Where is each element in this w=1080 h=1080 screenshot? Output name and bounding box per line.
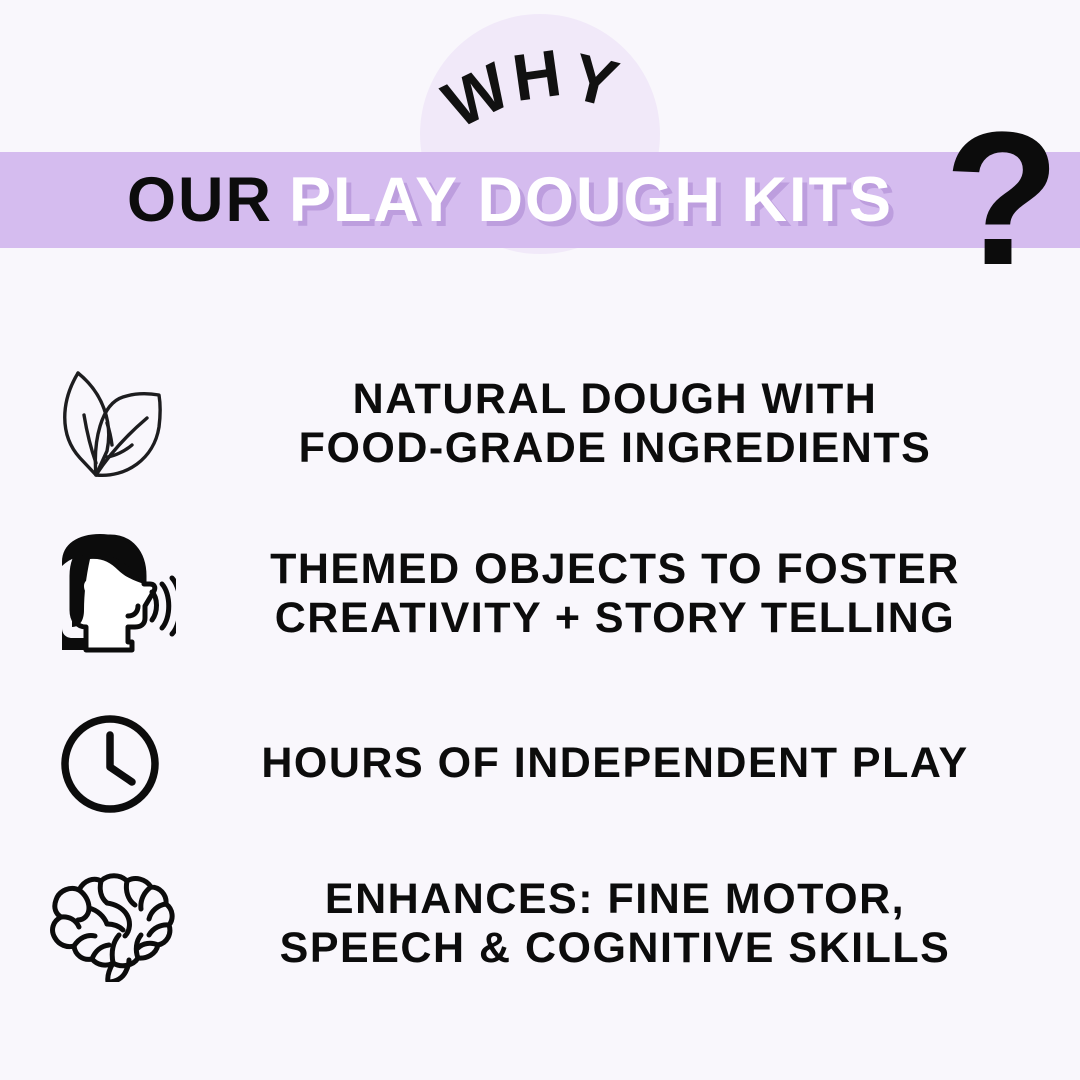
features-list: NATURAL DOUGH WITH FOOD-GRADE INGREDIENT… <box>0 322 1080 1062</box>
feature-line-2: CREATIVITY + STORY TELLING <box>220 594 1010 643</box>
banner-main-text: PLAY DOUGH KITS <box>289 164 893 236</box>
feature-text: ENHANCES: FINE MOTOR, SPEECH & COGNITIVE… <box>220 875 1080 973</box>
feature-line-2: FOOD-GRADE INGREDIENTS <box>220 424 1010 473</box>
feature-line-1: ENHANCES: FINE MOTOR, <box>325 875 905 923</box>
feature-row: HOURS OF INDEPENDENT PLAY <box>0 694 1080 834</box>
feature-text: NATURAL DOUGH WITH FOOD-GRADE INGREDIENT… <box>220 375 1080 473</box>
feature-text: HOURS OF INDEPENDENT PLAY <box>220 739 1080 788</box>
leaves-icon <box>0 363 220 485</box>
feature-line-2: SPEECH & COGNITIVE SKILLS <box>220 924 1010 973</box>
why-letter-1: W <box>434 52 519 139</box>
banner-headline: OUR PLAY DOUGH KITS <box>0 152 1080 248</box>
feature-line-1: HOURS OF INDEPENDENT PLAY <box>261 739 968 787</box>
why-letter-2: H <box>509 39 565 111</box>
feature-row: THEMED OBJECTS TO FOSTER CREATIVITY + ST… <box>0 514 1080 674</box>
header-section: W H Y OUR PLAY DOUGH KITS ? <box>0 0 1080 300</box>
why-letter-3: Y <box>566 43 625 118</box>
feature-row: NATURAL DOUGH WITH FOOD-GRADE INGREDIENT… <box>0 344 1080 504</box>
feature-line-1: THEMED OBJECTS TO FOSTER <box>270 545 960 593</box>
why-arched-title: W H Y <box>0 0 1080 170</box>
feature-line-1: NATURAL DOUGH WITH <box>353 375 878 423</box>
banner-prefix-our: OUR <box>127 164 273 236</box>
brain-icon <box>0 866 220 982</box>
feature-text: THEMED OBJECTS TO FOSTER CREATIVITY + ST… <box>220 545 1080 643</box>
clock-icon <box>0 712 220 816</box>
speaking-head-icon <box>0 532 220 656</box>
question-mark-glyph: ? <box>944 104 1060 294</box>
feature-row: ENHANCES: FINE MOTOR, SPEECH & COGNITIVE… <box>0 844 1080 1004</box>
